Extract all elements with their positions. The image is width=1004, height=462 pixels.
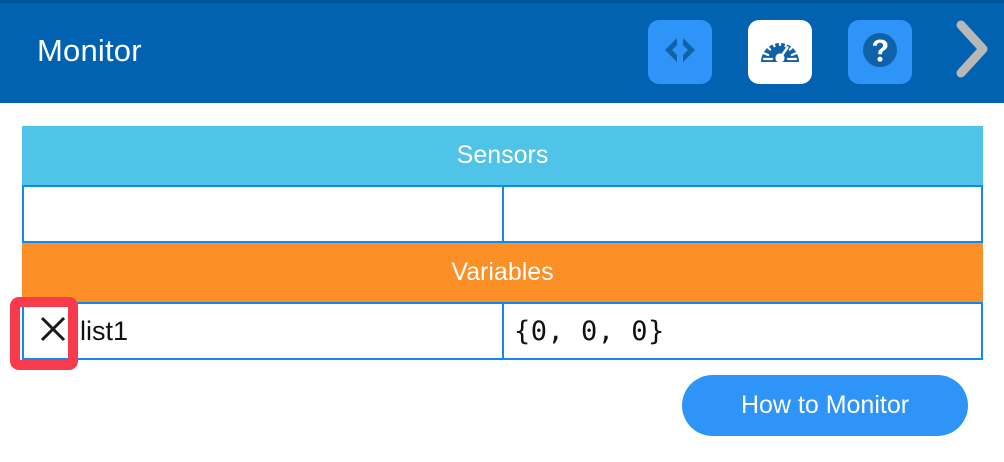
close-icon xyxy=(38,314,68,349)
code-brackets-icon xyxy=(661,35,699,70)
gauge-icon xyxy=(758,32,802,73)
next-page-button[interactable] xyxy=(940,18,1002,84)
page-title: Monitor xyxy=(37,30,142,72)
app-header: Monitor xyxy=(0,0,1004,103)
variable-row[interactable]: list1 {0, 0, 0} xyxy=(22,302,983,360)
question-mark-icon xyxy=(861,31,899,74)
help-button[interactable] xyxy=(848,20,912,84)
sensor-row[interactable] xyxy=(22,185,983,243)
monitor-table: Sensors Variables list1 {0, 0, 0} xyxy=(22,126,983,360)
variable-name-cell[interactable]: list1 xyxy=(24,304,504,358)
code-view-button[interactable] xyxy=(648,20,712,84)
monitor-view-button[interactable] xyxy=(748,20,812,84)
chevron-right-icon xyxy=(951,19,991,84)
variable-value-text: {0, 0, 0} xyxy=(514,316,665,347)
sensors-section-header: Sensors xyxy=(22,126,983,185)
how-to-monitor-button[interactable]: How to Monitor xyxy=(682,375,968,436)
variable-name-text: list1 xyxy=(80,316,128,347)
sensor-name-cell[interactable] xyxy=(24,187,504,241)
sensor-value-cell[interactable] xyxy=(504,187,981,241)
delete-variable-button[interactable] xyxy=(30,308,76,354)
variable-value-cell[interactable]: {0, 0, 0} xyxy=(504,304,981,358)
variables-section-header: Variables xyxy=(22,243,983,302)
